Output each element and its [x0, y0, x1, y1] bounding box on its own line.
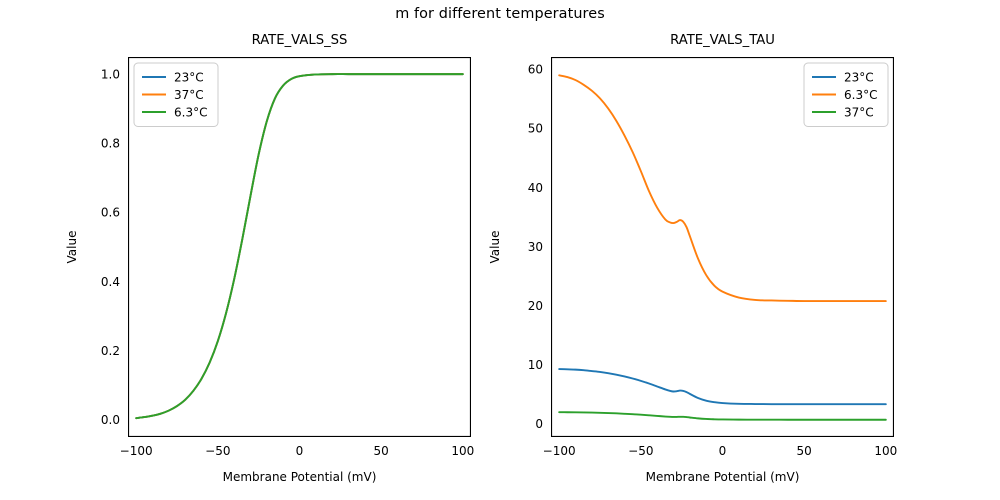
y-tick-label: 40 — [528, 181, 543, 195]
legend-label: 6.3°C — [844, 88, 877, 102]
y-tick-label: 30 — [528, 240, 543, 254]
axes-rate-vals-ss: RATE_VALS_SS 23°C37°C6.3°C — [128, 57, 471, 437]
legend-label: 23°C — [844, 70, 874, 84]
figure-suptitle: m for different temperatures — [0, 6, 1000, 22]
legend[interactable]: 23°C6.3°C37°C — [804, 63, 888, 127]
xlabel-left: Membrane Potential (mV) — [128, 470, 471, 484]
y-tick-label: 0.4 — [101, 275, 120, 289]
x-tick-label: −50 — [628, 444, 653, 458]
series-line-23C — [559, 369, 886, 404]
x-tick-label: 100 — [451, 444, 474, 458]
legend-label: 6.3°C — [174, 105, 207, 119]
y-tick-label: 50 — [528, 122, 543, 136]
plot-area-left: 23°C37°C6.3°C — [128, 57, 471, 437]
x-tick-label: 100 — [874, 444, 897, 458]
x-tick-label: 50 — [797, 444, 812, 458]
y-tick-label: 20 — [528, 299, 543, 313]
axes-title-right: RATE_VALS_TAU — [551, 33, 894, 48]
ylabel-left: Value — [65, 187, 79, 307]
matplotlib-figure: m for different temperatures RATE_VALS_S… — [0, 0, 1000, 500]
x-tick-label: 0 — [719, 444, 727, 458]
axes-rate-vals-tau: RATE_VALS_TAU 23°C6.3°C37°C — [551, 57, 894, 437]
y-tick-label: 0.8 — [101, 136, 120, 150]
axes-title-left: RATE_VALS_SS — [128, 33, 471, 48]
y-tick-label: 0 — [535, 417, 543, 431]
legend-label: 37°C — [174, 88, 204, 102]
legend[interactable]: 23°C37°C6.3°C — [134, 63, 218, 127]
y-tick-label: 10 — [528, 358, 543, 372]
ylabel-right: Value — [488, 187, 502, 307]
plot-area-right: 23°C6.3°C37°C — [551, 57, 894, 437]
x-tick-label: −100 — [120, 444, 153, 458]
y-tick-label: 1.0 — [101, 67, 120, 81]
xlabel-right: Membrane Potential (mV) — [551, 470, 894, 484]
y-tick-label: 0.6 — [101, 206, 120, 220]
series-line-37C — [559, 412, 886, 420]
x-tick-label: −100 — [543, 444, 576, 458]
x-tick-label: 0 — [296, 444, 304, 458]
x-tick-label: 50 — [374, 444, 389, 458]
legend-label: 37°C — [844, 105, 874, 119]
legend-label: 23°C — [174, 70, 204, 84]
x-tick-label: −50 — [205, 444, 230, 458]
y-tick-label: 0.2 — [101, 344, 120, 358]
y-tick-label: 0.0 — [101, 413, 120, 427]
y-tick-label: 60 — [528, 63, 543, 77]
